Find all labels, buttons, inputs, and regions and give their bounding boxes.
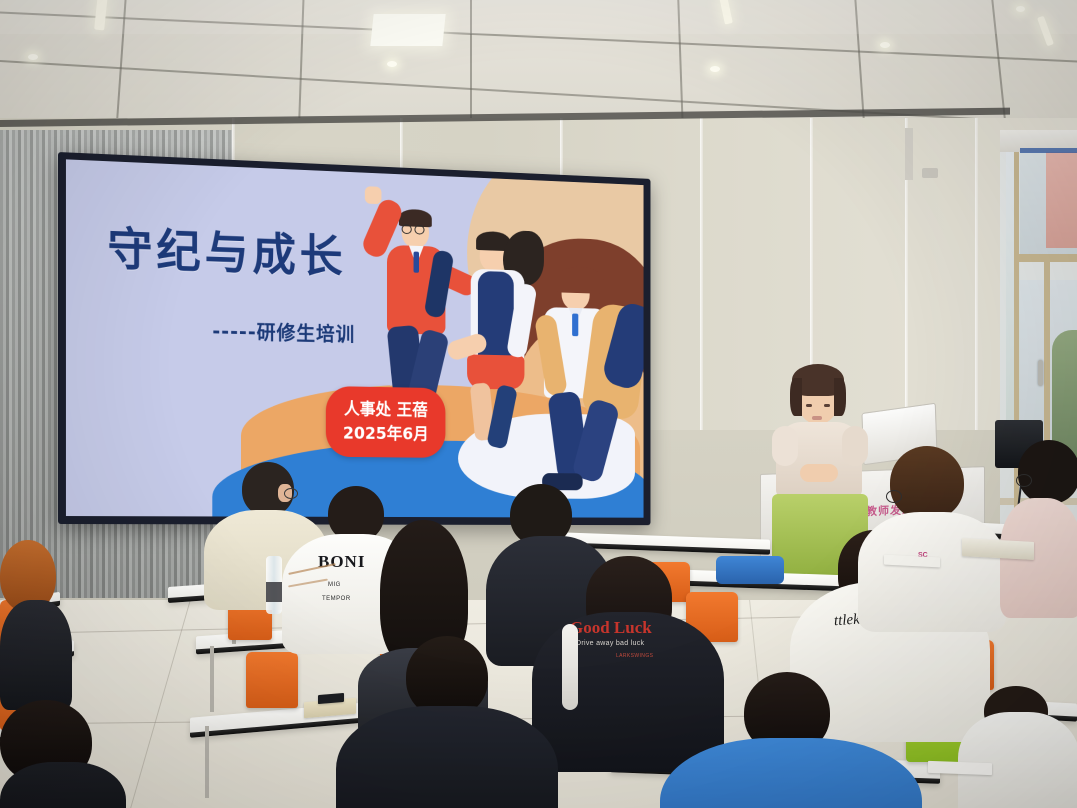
attendee-front-suit <box>336 636 556 808</box>
projection-screen[interactable]: 守纪与成长 -----研修生培训 人事处 王蓓 2025年6月 <box>58 152 650 525</box>
badge-date: 2025年6月 <box>343 422 429 447</box>
ceiling-downlight-4 <box>880 42 890 48</box>
slide-subtitle: -----研修生培训 <box>212 315 355 347</box>
bottle-label <box>266 582 282 602</box>
attendee-pink-right <box>1000 440 1077 610</box>
slide-surface: 守纪与成长 -----研修生培训 人事处 王蓓 2025年6月 <box>66 159 644 517</box>
ceiling-downlight-3 <box>710 66 720 72</box>
classroom-photo: 守纪与成长 -----研修生培训 人事处 王蓓 2025年6月 教师发展中心 <box>0 0 1077 808</box>
window-blind-stripe <box>1020 148 1077 153</box>
desk-leg-a <box>210 646 214 712</box>
wall-speaker <box>922 168 938 178</box>
attendee-sc-tee: SC <box>856 446 1006 616</box>
projector-mount-bracket <box>905 128 913 180</box>
hoodie-drawstring <box>562 624 578 710</box>
attendee-front-bottomleft <box>0 700 120 808</box>
ceiling-panel-light <box>370 14 445 46</box>
window-handle[interactable] <box>1038 360 1043 386</box>
attendee-bottom-right-grey <box>958 690 1077 808</box>
desk-leg-c <box>205 726 209 798</box>
slide-presenter-badge: 人事处 王蓓 2025年6月 <box>326 386 446 458</box>
open-book-right[interactable] <box>962 538 1034 560</box>
badge-presenter-name: 人事处 王蓓 <box>344 398 428 423</box>
slide-student-tan-jacket <box>535 258 643 513</box>
chair-orange-2[interactable] <box>246 652 298 708</box>
ceiling-downlight-5 <box>1016 6 1025 12</box>
attendee-front-left-orange <box>0 540 70 700</box>
paper-front-right[interactable] <box>928 761 992 775</box>
ceiling-downlight-2 <box>387 61 397 67</box>
ceiling-downlight-1 <box>28 54 38 60</box>
chair-blue-back[interactable] <box>716 556 784 584</box>
attendee-front-blue <box>660 672 920 808</box>
slide-title: 守纪与成长 <box>107 213 346 286</box>
